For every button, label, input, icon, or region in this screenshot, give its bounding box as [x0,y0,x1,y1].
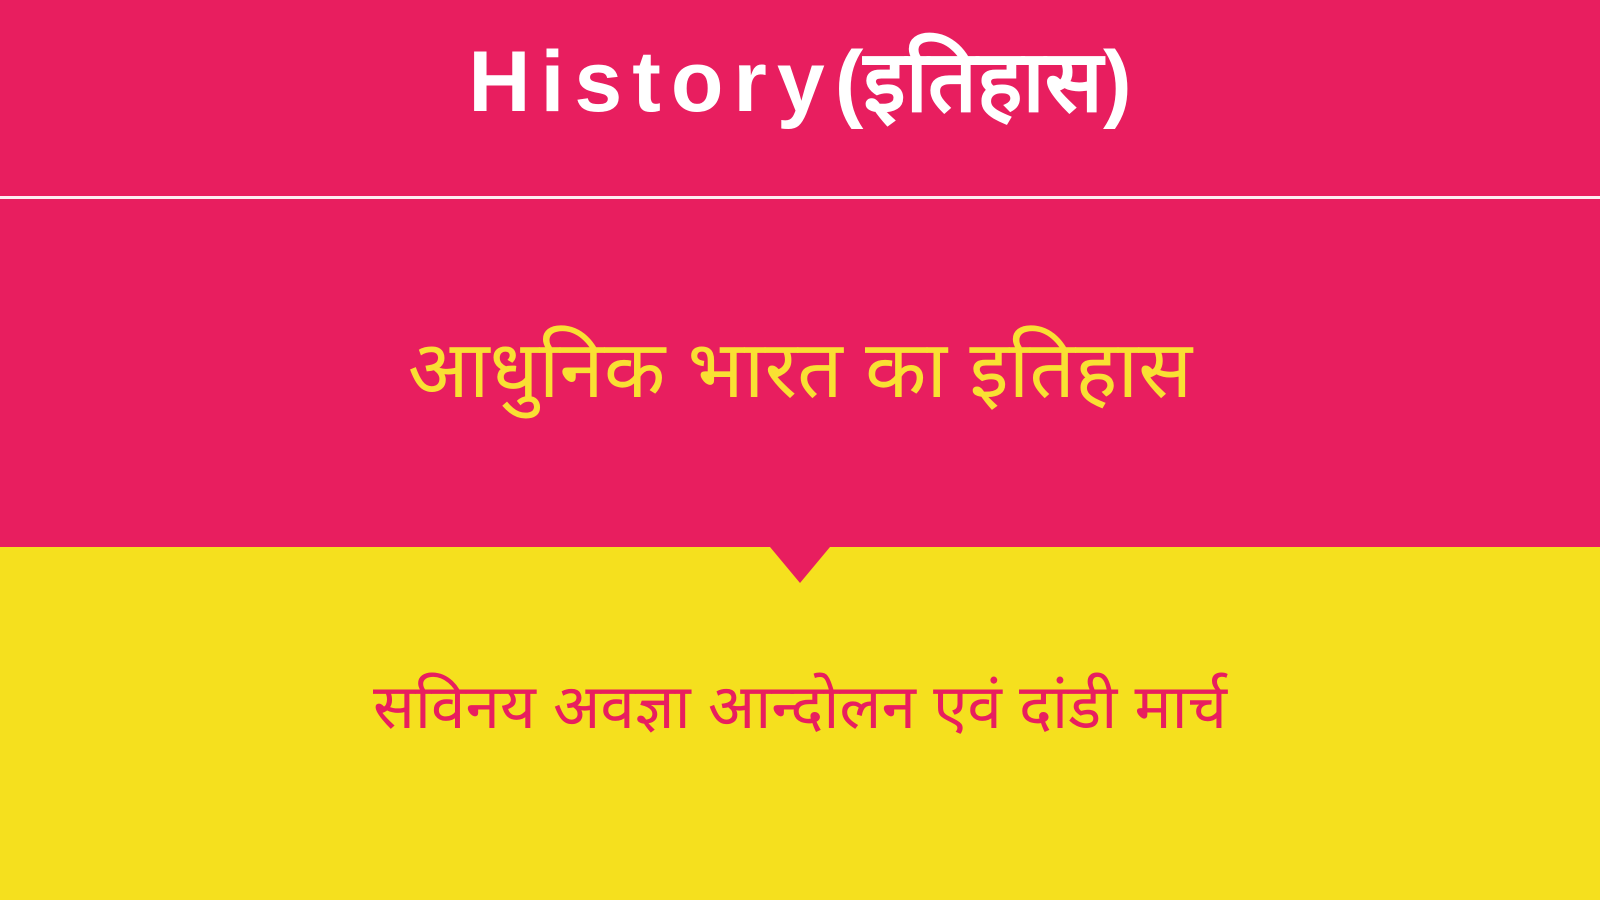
page-title-latin: History [468,34,834,130]
presentation-slide: History(इतिहास) आधुनिक भारत का इतिहास सव… [0,0,1600,900]
title-divider [0,196,1600,199]
triangle-pointer-icon [770,547,830,583]
subheading: आधुनिक भारत का इतिहास [0,316,1600,424]
topic-heading: सविनय अवज्ञा आन्दोलन एवं दांडी मार्च [0,666,1600,750]
page-title-devanagari: (इतिहास) [835,34,1132,130]
page-title: History(इतिहास) [0,24,1600,140]
